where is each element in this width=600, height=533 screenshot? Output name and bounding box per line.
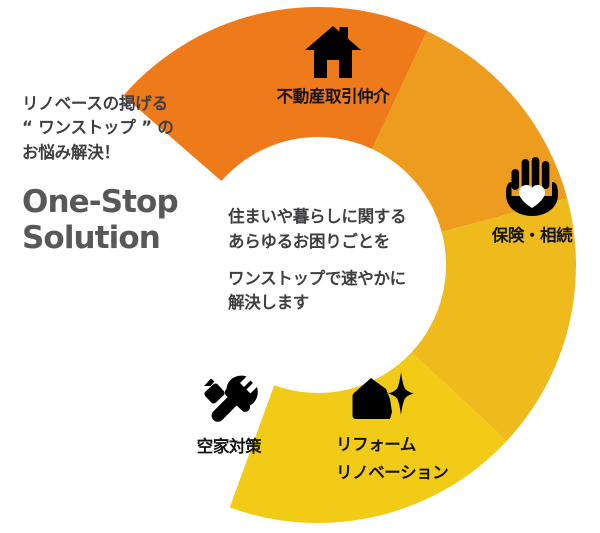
center-description: 住まいや暮らしに関する あらゆるお困りごとを ワンストップで速やかに 解決します: [228, 205, 443, 316]
segment-label-reform-line-1: リフォーム: [336, 434, 506, 456]
center-p2-line-1: ワンストップで速やかに: [228, 267, 443, 292]
segment-label-insurance[interactable]: 保険・相続: [468, 152, 596, 247]
lead-line-1: リノベースの掲げる: [22, 92, 237, 116]
page-title-line-2: Solution: [22, 220, 237, 256]
center-p1-line-1: 住まいや暮らしに関する: [228, 205, 443, 230]
segment-label-reform-line-2: リノベーション: [336, 462, 506, 484]
segment-label-vacant[interactable]: 空家対策: [154, 370, 304, 458]
lead-line-2: “ ワンストップ ” の: [22, 116, 237, 140]
center-paragraph-gap: [228, 255, 443, 267]
house-sparkle-icon: [346, 372, 414, 428]
segment-label-realestate[interactable]: 不動産取引仲介: [248, 24, 418, 108]
segment-label-vacant-text: 空家対策: [154, 436, 304, 458]
hand-heart-icon: [504, 152, 560, 218]
page-title-line-1: One-Stop: [22, 184, 237, 220]
hammer-wrench-icon: [197, 370, 261, 428]
one-stop-solution-infographic: リノベースの掲げる “ ワンストップ ” の お悩み解決！ One-Stop S…: [0, 0, 600, 533]
center-p1-line-2: あらゆるお困りごとを: [228, 230, 443, 255]
segment-label-insurance-text: 保険・相続: [468, 225, 596, 247]
page-title: One-Stop Solution: [22, 184, 237, 257]
house-icon: [301, 24, 365, 82]
segment-label-reform[interactable]: リフォーム リノベーション: [336, 372, 506, 484]
lead-line-3: お悩み解決！: [22, 141, 237, 165]
segment-label-realestate-text: 不動産取引仲介: [248, 86, 418, 108]
center-p2-line-2: 解決します: [228, 291, 443, 316]
left-headline-block: リノベースの掲げる “ ワンストップ ” の お悩み解決！ One-Stop S…: [22, 92, 237, 257]
